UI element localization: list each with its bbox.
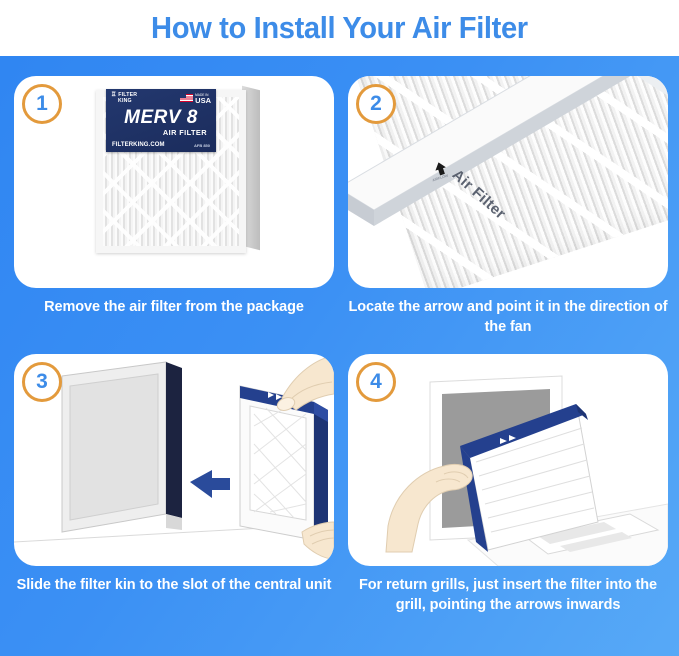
step-2-card: 2 (348, 76, 668, 288)
step-4: 4 (348, 354, 668, 615)
title-bar: How to Install Your Air Filter (0, 0, 679, 56)
step-3-badge: 3 (22, 362, 62, 402)
step-2-caption: Locate the arrow and point it in the dir… (348, 297, 668, 337)
product-code: AFB 850 (194, 143, 210, 148)
step-3: 3 (14, 354, 334, 595)
step-4-badge: 4 (356, 362, 396, 402)
page-title: How to Install Your Air Filter (151, 10, 528, 46)
infographic-page: How to Install Your Air Filter 1 (0, 0, 679, 656)
brand-website: FILTERKING.COM (112, 142, 165, 148)
crown-icon: ♖ (111, 92, 117, 98)
step-1: 1 ♖ FILTER (14, 76, 334, 317)
step-2: 2 (348, 76, 668, 337)
brand-logo: ♖ FILTER KING (111, 92, 137, 104)
step-3-image (14, 354, 334, 566)
product-type: AIR FILTER (106, 128, 207, 137)
step-1-image: ♖ FILTER KING MADE IN USA (14, 76, 334, 288)
step-3-caption: Slide the filter kin to the slot of the … (14, 575, 334, 595)
step-2-badge: 2 (356, 84, 396, 124)
insert-arrow-icon (190, 470, 230, 498)
step-4-image (348, 354, 668, 566)
usa-flag-icon (180, 94, 193, 102)
step-1-badge: 1 (22, 84, 62, 124)
step-4-caption: For return grills, just insert the filte… (348, 575, 668, 615)
product-label: ♖ FILTER KING MADE IN USA (106, 89, 216, 152)
central-unit-slot (62, 362, 182, 532)
merv-rating: MERV 8 (106, 107, 216, 129)
made-in-usa-badge: MADE IN USA (180, 93, 211, 103)
step-2-image: AIRFLOW Air Filter (348, 76, 668, 288)
hand-top (275, 356, 334, 413)
steps-grid: 1 ♖ FILTER (0, 56, 679, 656)
step-4-card: 4 (348, 354, 668, 566)
step-1-card: 1 ♖ FILTER (14, 76, 334, 288)
step-3-card: 3 (14, 354, 334, 566)
step-1-caption: Remove the air filter from the package (14, 297, 334, 317)
